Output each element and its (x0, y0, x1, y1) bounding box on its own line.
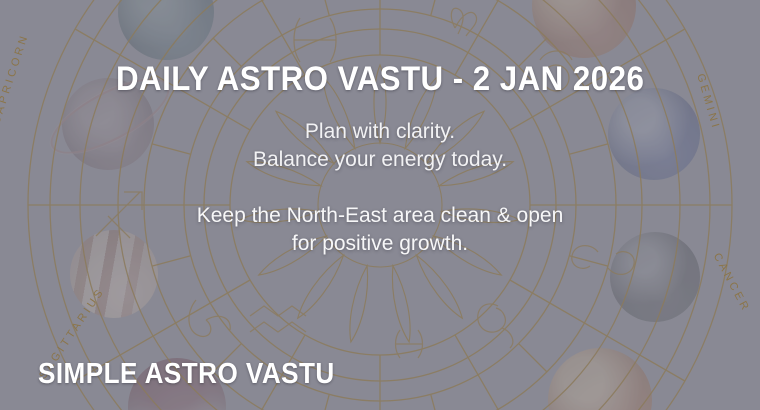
subtitle-line-2: Balance your energy today. (253, 146, 507, 174)
tip-line-1: Keep the North-East area clean & open (197, 202, 564, 230)
poster-subtitle: Plan with clarity. Balance your energy t… (253, 118, 507, 174)
subtitle-line-1: Plan with clarity. (253, 118, 507, 146)
brand-name: SIMPLE ASTRO VASTU (38, 358, 722, 391)
astro-vastu-poster: CAPRICORN SAGITTARIUS GEMINI CANCER DAIL… (0, 0, 760, 410)
poster-text-content: DAILY ASTRO VASTU - 2 JAN 2026 Plan with… (0, 0, 760, 410)
tip-line-2: for positive growth. (197, 230, 564, 258)
page-title: DAILY ASTRO VASTU - 2 JAN 2026 (116, 62, 644, 96)
vastu-tip: Keep the North-East area clean & open fo… (197, 202, 564, 258)
